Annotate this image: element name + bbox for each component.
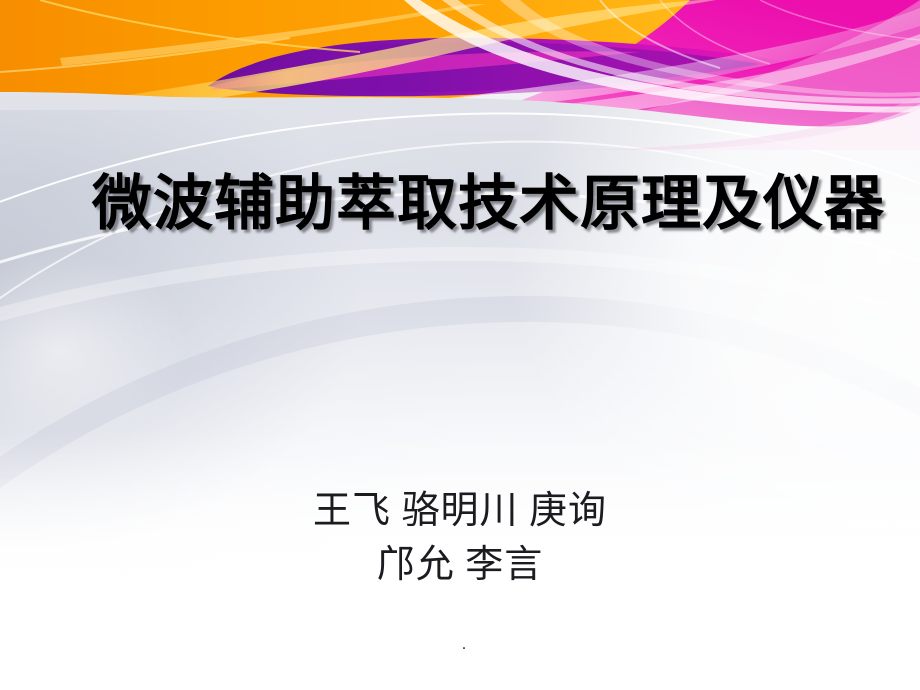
slide-canvas: 微波辅助萃取技术原理及仪器 王飞 骆明川 庚询 邝允 李言 . <box>0 0 920 690</box>
slide-title: 微波辅助萃取技术原理及仪器 <box>92 168 852 240</box>
footer-mark: . <box>452 636 476 654</box>
subtitle-line-2: 邝允 李言 <box>160 538 760 592</box>
header-banner <box>0 0 920 150</box>
slide-subtitle: 王飞 骆明川 庚询 邝允 李言 <box>160 484 760 592</box>
header-banner-artwork <box>0 0 920 150</box>
subtitle-line-1: 王飞 骆明川 庚询 <box>160 484 760 538</box>
